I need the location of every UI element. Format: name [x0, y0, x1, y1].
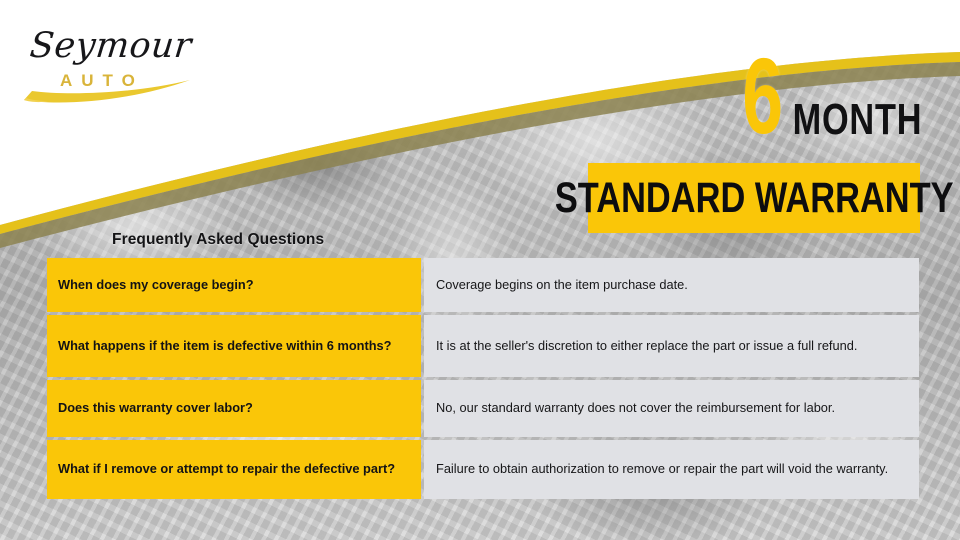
- banner-title: STANDARD WARRANTY: [555, 177, 954, 220]
- duration-unit-label: MONTH: [792, 98, 922, 142]
- faq-answer-text: It is at the seller's discretion to eith…: [436, 338, 907, 355]
- faq-answer-cell: No, our standard warranty does not cover…: [424, 380, 919, 437]
- logo: Seymour AUTO: [18, 16, 198, 108]
- faq-question-text: What happens if the item is defective wi…: [58, 338, 391, 355]
- faq-answer-cell: Coverage begins on the item purchase dat…: [424, 258, 919, 312]
- faq-answer-text: No, our standard warranty does not cover…: [436, 400, 907, 417]
- faq-row: What if I remove or attempt to repair th…: [47, 440, 919, 499]
- faq-answer-text: Coverage begins on the item purchase dat…: [436, 277, 907, 294]
- faq-question-text: Does this warranty cover labor?: [58, 400, 253, 417]
- standard-warranty-banner: STANDARD WARRANTY: [588, 163, 920, 233]
- faq-row: Does this warranty cover labor? No, our …: [47, 380, 919, 437]
- warranty-slide: Seymour AUTO 6 MONTH STANDARD WARRANTY F…: [0, 0, 960, 540]
- faq-question-cell: When does my coverage begin?: [47, 258, 421, 312]
- faq-question-text: When does my coverage begin?: [58, 277, 254, 294]
- faq-answer-text: Failure to obtain authorization to remov…: [436, 461, 907, 478]
- faq-answer-cell: Failure to obtain authorization to remov…: [424, 440, 919, 499]
- faq-heading: Frequently Asked Questions: [112, 231, 324, 249]
- faq-row: What happens if the item is defective wi…: [47, 315, 919, 377]
- faq-table: When does my coverage begin? Coverage be…: [47, 258, 919, 499]
- logo-auto-text: AUTO: [60, 71, 144, 91]
- faq-question-cell: What if I remove or attempt to repair th…: [47, 440, 421, 499]
- faq-row: When does my coverage begin? Coverage be…: [47, 258, 919, 312]
- faq-question-cell: What happens if the item is defective wi…: [47, 315, 421, 377]
- faq-question-cell: Does this warranty cover labor?: [47, 380, 421, 437]
- duration-number: 6: [742, 42, 783, 150]
- logo-script-text: Seymour: [28, 26, 194, 66]
- faq-question-text: What if I remove or attempt to repair th…: [58, 461, 395, 478]
- faq-answer-cell: It is at the seller's discretion to eith…: [424, 315, 919, 377]
